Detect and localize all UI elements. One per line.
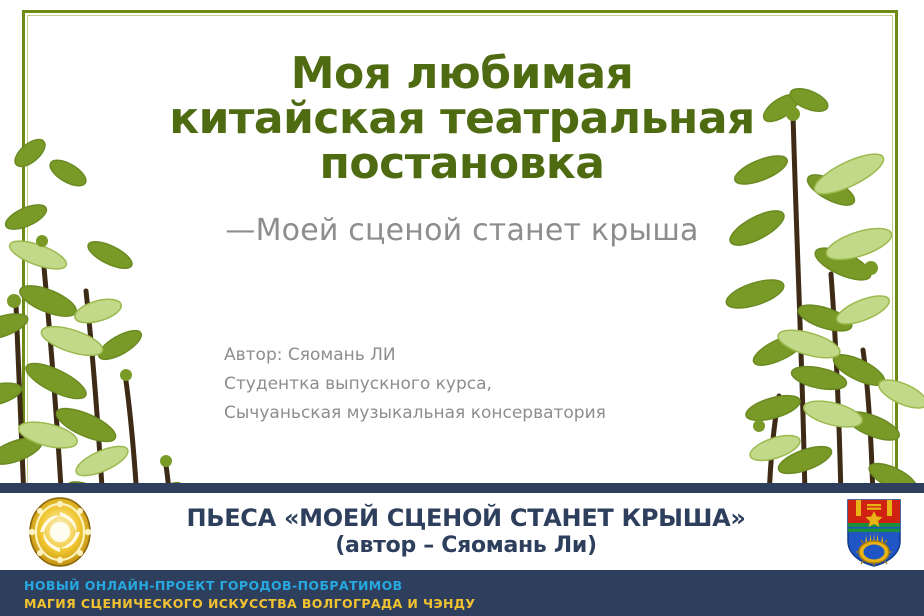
author-name-line: Автор: Сяомань ЛИ bbox=[224, 341, 606, 370]
chengdu-sun-bird-emblem-icon bbox=[14, 496, 106, 568]
title-line-3: постановка bbox=[70, 142, 854, 187]
banner-title: ПЬЕСА «МОЕЙ СЦЕНОЙ СТАНЕТ КРЫША» (автор … bbox=[106, 505, 836, 559]
volgograd-coat-of-arms-icon bbox=[836, 495, 912, 569]
banner-title-line-2: (автор – Сяомань Ли) bbox=[106, 533, 826, 558]
author-institution-line: Сычуаньская музыкальная консерватория bbox=[224, 399, 606, 428]
footer-bar: НОВЫЙ ОНЛАЙН-ПРОЕКТ ГОРОДОВ-ПОБРАТИМОВ М… bbox=[0, 570, 924, 616]
footer-tagline: МАГИЯ СЦЕНИЧЕСКОГО ИСКУССТВА ВОЛГОГРАДА … bbox=[24, 595, 924, 613]
footer-project-line: НОВЫЙ ОНЛАЙН-ПРОЕКТ ГОРОДОВ-ПОБРАТИМОВ bbox=[24, 577, 924, 595]
title-block: Моя любимая китайская театральная постан… bbox=[0, 52, 924, 248]
author-block: Автор: Сяомань ЛИ Студентка выпускного к… bbox=[224, 341, 606, 429]
presentation-slide: Моя любимая китайская театральная постан… bbox=[0, 0, 924, 616]
page-title: Моя любимая китайская театральная постан… bbox=[0, 52, 924, 187]
title-line-2: китайская театральная bbox=[70, 97, 854, 142]
title-line-1: Моя любимая bbox=[70, 52, 854, 97]
banner-top-rule bbox=[0, 483, 924, 493]
author-status-line: Студентка выпускного курса, bbox=[224, 370, 606, 399]
bottom-banner: ПЬЕСА «МОЕЙ СЦЕНОЙ СТАНЕТ КРЫША» (автор … bbox=[0, 493, 924, 570]
banner-title-line-1: ПЬЕСА «МОЕЙ СЦЕНОЙ СТАНЕТ КРЫША» bbox=[186, 504, 745, 532]
subtitle: —Моей сценой станет крыша bbox=[0, 213, 924, 248]
